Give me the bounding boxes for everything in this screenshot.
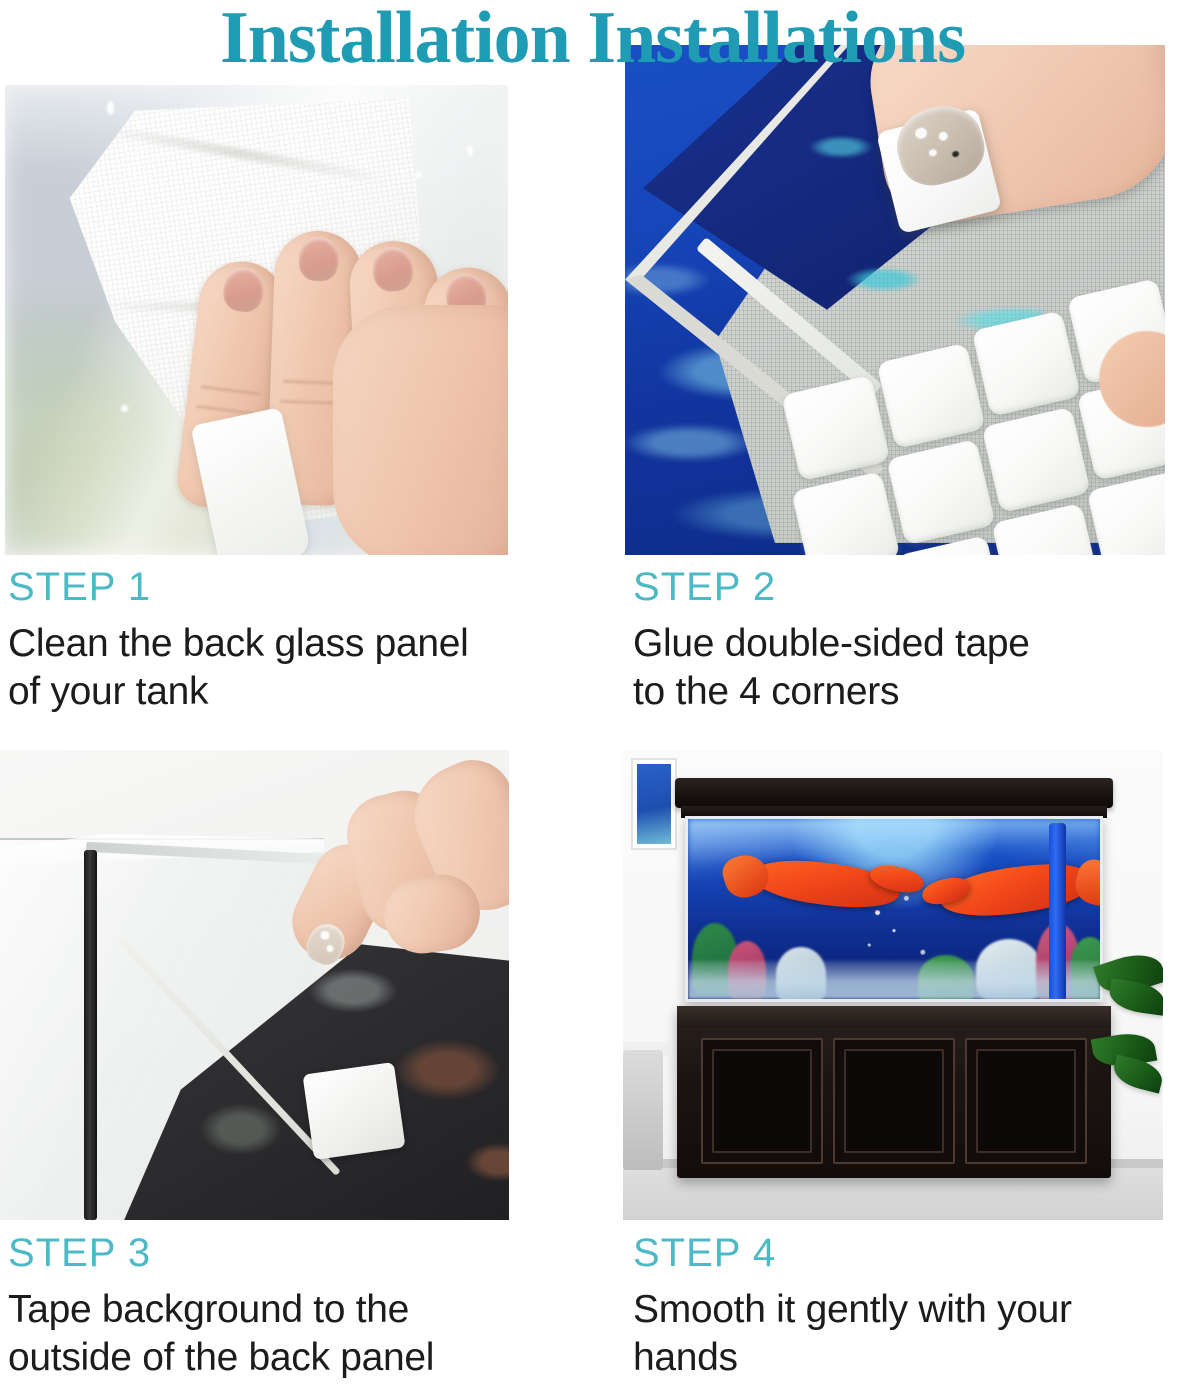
adhesive-square (876, 343, 985, 449)
step-2-photo-container (625, 45, 1165, 555)
step-4-image (623, 750, 1163, 1220)
glitter-speck (951, 150, 959, 158)
stand-cabinet-door-2[interactable] (833, 1038, 955, 1164)
fingernail (298, 236, 340, 281)
step-1-photo-container (5, 85, 508, 555)
blue-filter-tube (1049, 823, 1066, 1001)
adhesive-square (886, 439, 995, 545)
fingernail (221, 265, 266, 314)
step-2-caption: STEP 2 Glue double-sided tape to the 4 c… (633, 566, 1185, 715)
glitter-speck (325, 944, 334, 953)
fingernail (372, 246, 414, 292)
installation-instructions-infographic: Installation Installations (0, 0, 1185, 1398)
adhesive-square (1087, 471, 1165, 555)
glitter-speck (938, 131, 949, 142)
step-1-image (5, 85, 508, 555)
step-1-caption: STEP 1 Clean the back glass panel of you… (8, 566, 568, 715)
aquarium-substrate (688, 961, 1100, 999)
step-4-description: Smooth it gently with your hands (633, 1286, 1185, 1381)
wall-picture-frame (631, 758, 677, 850)
side-table (623, 1050, 663, 1170)
step-3-caption: STEP 3 Tape background to the outside of… (8, 1232, 568, 1381)
double-sided-tape-square (302, 1062, 405, 1160)
step-2-image (625, 45, 1165, 555)
step-1-description: Clean the back glass panel of your tank (8, 620, 568, 715)
adhesive-square (972, 310, 1081, 416)
water-droplet (467, 145, 473, 156)
adhesive-square (791, 471, 900, 555)
glitter-speck (928, 148, 938, 157)
step-1-label: STEP 1 (8, 566, 568, 608)
aquarium-hood (675, 778, 1113, 808)
water-droplet (107, 101, 114, 115)
step-4-photo-container (623, 750, 1163, 1220)
step-2-label: STEP 2 (633, 566, 1185, 608)
stand-cabinet-door-3[interactable] (965, 1038, 1087, 1164)
step-3-label: STEP 3 (8, 1232, 568, 1274)
stand-cabinet-door-1[interactable] (701, 1038, 823, 1164)
aquarium-stand (677, 1006, 1111, 1178)
glitter-speck (914, 126, 929, 140)
step-2-description: Glue double-sided tape to the 4 corners (633, 620, 1185, 715)
aquarium-tank (685, 816, 1103, 1002)
framed-blue-artwork (637, 764, 671, 844)
hand (292, 756, 509, 956)
page-title: Installation Installations (0, 0, 1185, 81)
palm (333, 305, 508, 555)
step-3-photo-container (0, 750, 509, 1220)
adhesive-square (981, 407, 1090, 513)
step-4-label: STEP 4 (633, 1232, 1185, 1274)
water-droplet (121, 405, 128, 412)
knuckle-crease (200, 385, 260, 395)
step-3-description: Tape background to the outside of the ba… (8, 1286, 568, 1381)
step-3-image (0, 750, 509, 1220)
adhesive-square (781, 375, 890, 481)
step-4-caption: STEP 4 Smooth it gently with your hands (633, 1232, 1185, 1381)
stand-top-trim (677, 1006, 1111, 1028)
glitter-speck (319, 929, 331, 941)
black-corner-trim (84, 850, 97, 1220)
